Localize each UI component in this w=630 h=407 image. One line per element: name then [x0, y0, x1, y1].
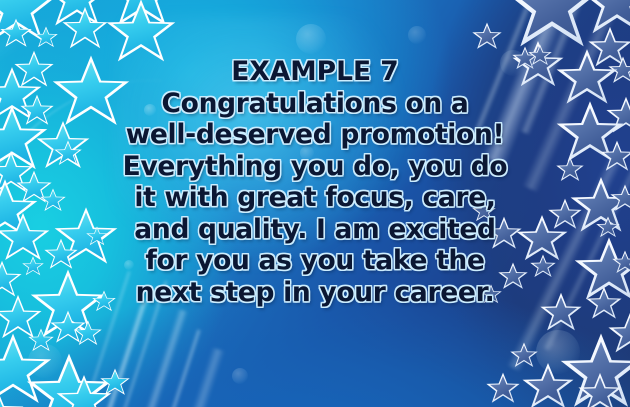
- bokeh-5: [232, 368, 248, 384]
- greeting-message: EXAMPLE 7 Congratulations on a well-dese…: [0, 56, 630, 308]
- message-line-6: and quality. I am excited: [0, 214, 630, 246]
- message-line-5: it with great focus, care,: [0, 182, 630, 214]
- message-line-3: well-deserved promotion!: [0, 119, 630, 151]
- bokeh-2: [408, 26, 426, 44]
- message-line-2: Congratulations on a: [0, 88, 630, 120]
- bokeh-1: [296, 24, 326, 54]
- message-line-8: next step in your career.: [0, 277, 630, 309]
- message-line-7: for you as you take the: [0, 245, 630, 277]
- message-line-4: Everything you do, you do: [0, 151, 630, 183]
- message-line-1: EXAMPLE 7: [0, 56, 630, 88]
- greeting-card: EXAMPLE 7 Congratulations on a well-dese…: [0, 0, 630, 407]
